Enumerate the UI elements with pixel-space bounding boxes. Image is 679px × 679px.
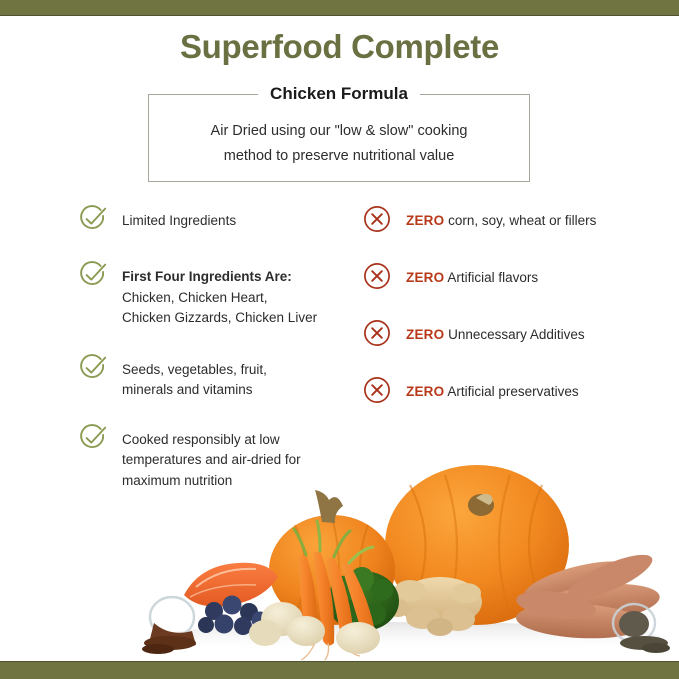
top-olive-band [0,0,679,16]
benefit-line: Seeds, vegetables, fruit, [122,360,267,381]
exclusion-item-text: ZERO corn, soy, wheat or fillers [406,206,596,232]
exclusion-item-text: ZERO Artificial flavors [406,263,538,289]
benefit-line: Chicken, Chicken Heart, [122,288,317,309]
page-title: Superfood Complete [0,28,679,66]
benefit-lead: First Four Ingredients Are: [122,267,317,288]
check-circle-icon [78,353,108,383]
exclusion-item-text: ZERO Artificial preservatives [406,377,579,403]
check-circle-icon [78,260,108,290]
exclusion-item-artificial-flavors: ZERO Artificial flavors [362,263,662,291]
benefit-item-first-four-ingredients: First Four Ingredients Are: Chicken, Chi… [78,262,348,329]
x-circle-icon [362,204,392,234]
superfood-ingredients-photo [110,405,670,660]
benefit-line: Chicken Gizzards, Chicken Liver [122,308,317,329]
benefit-line: minerals and vitamins [122,380,267,401]
exclusion-item-text: ZERO Unnecessary Additives [406,320,585,346]
x-circle-icon [362,375,392,405]
benefit-item-text: Seeds, vegetables, fruit, minerals and v… [122,355,267,401]
check-circle-icon [78,423,108,453]
benefit-item-text: Limited Ingredients [122,206,236,232]
exclusion-item-artificial-preservatives: ZERO Artificial preservatives [362,377,662,405]
formula-description: Air Dried using our "low & slow" cooking… [149,119,529,169]
x-circle-icon [362,261,392,291]
formula-description-line-2: method to preserve nutritional value [149,144,529,169]
zero-label: ZERO [406,327,444,342]
benefit-item-text: First Four Ingredients Are: Chicken, Chi… [122,262,317,329]
exclusion-item-unnecessary-additives: ZERO Unnecessary Additives [362,320,662,348]
formula-box: Chicken Formula Air Dried using our "low… [148,94,530,182]
benefit-item-seeds-vegetables: Seeds, vegetables, fruit, minerals and v… [78,355,348,401]
exclusion-detail: corn, soy, wheat or fillers [444,213,596,228]
exclusion-detail: Artificial flavors [444,270,538,285]
zero-label: ZERO [406,384,444,399]
zero-label: ZERO [406,213,444,228]
benefit-item-limited-ingredients: Limited Ingredients [78,206,348,234]
exclusion-detail: Unnecessary Additives [444,327,584,342]
x-circle-icon [362,318,392,348]
formula-description-line-1: Air Dried using our "low & slow" cooking [149,119,529,144]
benefit-line: Limited Ingredients [122,211,236,232]
check-circle-icon [78,204,108,234]
product-infographic: Superfood Complete Chicken Formula Air D… [0,0,679,679]
zero-label: ZERO [406,270,444,285]
seed-jar-left [142,597,196,654]
exclusions-column: ZERO corn, soy, wheat or fillers ZERO Ar… [362,206,662,434]
formula-legend: Chicken Formula [258,84,420,104]
exclusion-detail: Artificial preservatives [444,384,578,399]
bottom-olive-band [0,661,679,679]
exclusion-item-corn-soy-wheat-fillers: ZERO corn, soy, wheat or fillers [362,206,662,234]
